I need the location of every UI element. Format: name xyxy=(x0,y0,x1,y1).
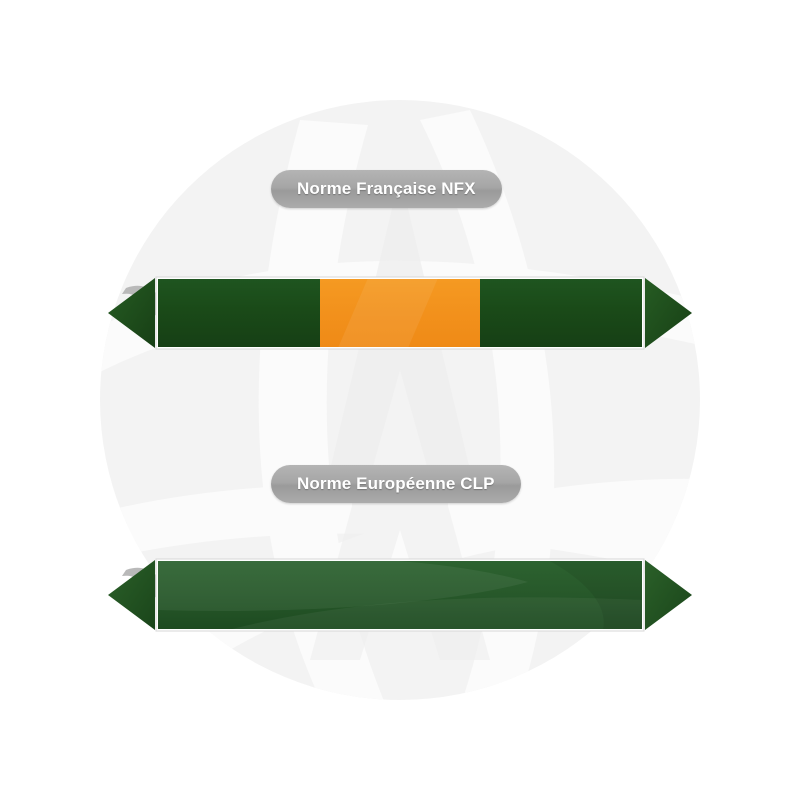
badge-norme-francaise-nfx: Norme Française NFX xyxy=(271,170,502,208)
pipe-marker-clp: EAU CHAUDE 105°C xyxy=(108,548,692,640)
badge-nfx-label: Norme Française NFX xyxy=(297,179,476,199)
pipe-marker-nfx-graphic xyxy=(108,266,692,358)
right-arrow-head-icon xyxy=(645,560,692,630)
right-arrow-head-icon xyxy=(645,278,692,348)
badge-norme-europeenne-clp: Norme Européenne CLP xyxy=(271,465,521,503)
product-image-canvas: Norme Française NFX xyxy=(0,0,800,800)
pipe-marker-clp-graphic xyxy=(108,548,692,640)
badge-clp-label: Norme Européenne CLP xyxy=(297,474,495,494)
pipe-marker-nfx: EAU CHAUDE 105°C xyxy=(108,266,692,358)
watermark-logo-icon xyxy=(0,0,800,800)
